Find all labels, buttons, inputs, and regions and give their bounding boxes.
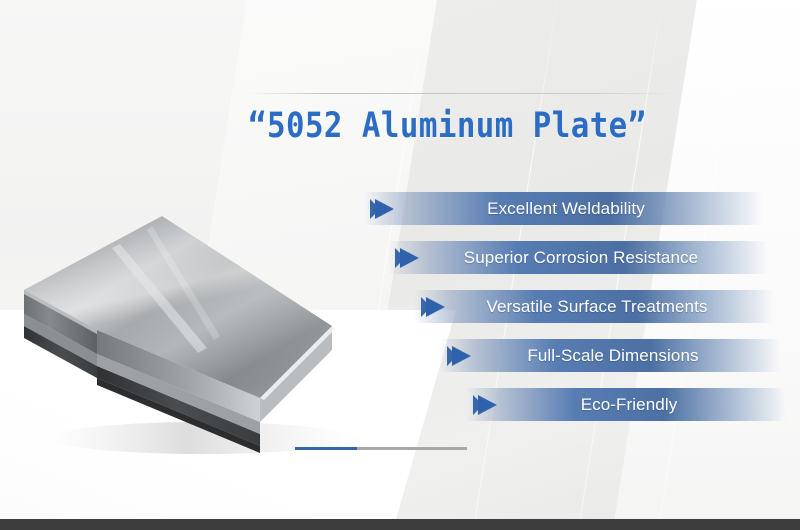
feature-row: Excellent Weldability bbox=[0, 192, 800, 225]
play-triangle-icon bbox=[472, 394, 498, 416]
feature-row: Versatile Surface Treatments bbox=[0, 290, 800, 323]
feature-label: Full-Scale Dimensions bbox=[472, 346, 780, 366]
feature-bar-eco-friendly[interactable]: Eco-Friendly bbox=[466, 388, 786, 421]
play-triangle-icon bbox=[446, 345, 472, 367]
feature-bar-excellent-weldability[interactable]: Excellent Weldability bbox=[363, 192, 763, 225]
feature-label: Eco-Friendly bbox=[498, 395, 786, 415]
feature-bar-superior-corrosion-resistance[interactable]: Superior Corrosion Resistance bbox=[388, 241, 768, 274]
feature-row: Eco-Friendly bbox=[0, 388, 800, 421]
play-triangle-icon bbox=[369, 198, 395, 220]
banner-root: “5052 Aluminum Plate” Excellent Weldabil… bbox=[0, 0, 800, 530]
feature-bar-full-scale-dimensions[interactable]: Full-Scale Dimensions bbox=[440, 339, 780, 372]
feature-label: Superior Corrosion Resistance bbox=[420, 248, 768, 268]
feature-list: Excellent Weldability Superior Corrosion… bbox=[0, 192, 800, 437]
feature-row: Superior Corrosion Resistance bbox=[0, 241, 800, 274]
title-hairline-divider bbox=[248, 93, 678, 94]
accent-underline bbox=[295, 447, 467, 450]
feature-label: Versatile Surface Treatments bbox=[446, 297, 774, 317]
play-triangle-icon bbox=[394, 247, 420, 269]
play-triangle-icon bbox=[420, 296, 446, 318]
feature-row: Full-Scale Dimensions bbox=[0, 339, 800, 372]
bottom-bar bbox=[0, 519, 800, 530]
page-title: “5052 Aluminum Plate” bbox=[248, 104, 688, 148]
feature-bar-versatile-surface-treatments[interactable]: Versatile Surface Treatments bbox=[414, 290, 774, 323]
feature-label: Excellent Weldability bbox=[395, 199, 763, 219]
